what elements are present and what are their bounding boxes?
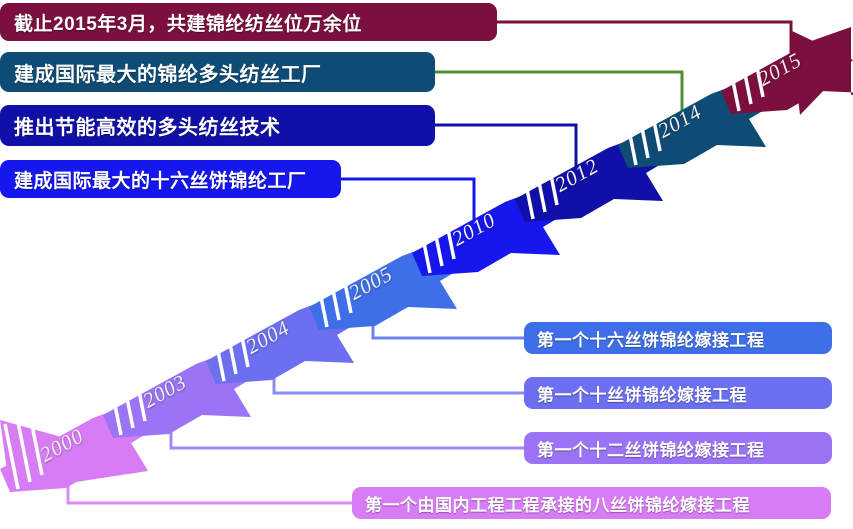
- callout-2004-text: 第一个十丝饼锦纶嫁接工程: [537, 381, 819, 406]
- connector-2012: [435, 125, 576, 185]
- connector-2014: [435, 72, 682, 118]
- callout-2015[interactable]: 截止2015年3月，共建锦纶纺丝位万余位: [0, 3, 497, 41]
- callout-2012[interactable]: 推出节能高效的多头纺丝技术: [0, 105, 435, 146]
- callout-2003-text: 第一个十二丝饼锦纶嫁接工程: [537, 436, 819, 461]
- callout-2005[interactable]: 第一个十六丝饼锦纶嫁接工程: [524, 322, 832, 354]
- callout-2000-text: 第一个由国内工程工程承接的八丝饼锦纶嫁接工程: [365, 491, 818, 516]
- callout-2004[interactable]: 第一个十丝饼锦纶嫁接工程: [524, 377, 832, 409]
- connector-2015: [497, 22, 791, 62]
- arrow-2015: [721, 27, 853, 115]
- callout-2005-text: 第一个十六丝饼锦纶嫁接工程: [537, 326, 819, 351]
- callout-2012-text: 推出节能高效的多头纺丝技术: [14, 111, 421, 140]
- callout-2000[interactable]: 第一个由国内工程工程承接的八丝饼锦纶嫁接工程: [352, 487, 831, 519]
- callout-2014-text: 建成国际最大的锦纶多头纺丝工厂: [14, 58, 421, 87]
- timeline-diagram: 2000 2003 2004 2005 2010 2012 2014 2015 …: [0, 0, 853, 529]
- callout-2003[interactable]: 第一个十二丝饼锦纶嫁接工程: [524, 432, 832, 464]
- callout-2014[interactable]: 建成国际最大的锦纶多头纺丝工厂: [0, 52, 435, 92]
- callout-2015-text: 截止2015年3月，共建锦纶纺丝位万余位: [14, 9, 483, 36]
- callout-2010[interactable]: 建成国际最大的十六丝饼锦纶工厂: [0, 160, 341, 198]
- callout-2010-text: 建成国际最大的十六丝饼锦纶工厂: [14, 166, 327, 193]
